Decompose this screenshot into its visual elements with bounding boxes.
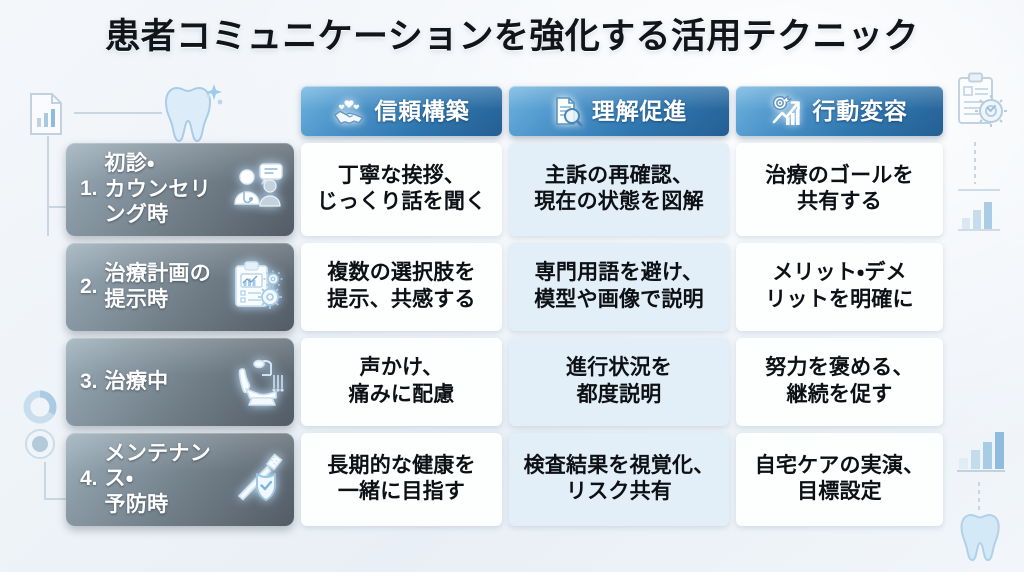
cell-line2: 現在の状態を図解 bbox=[534, 190, 704, 213]
technique-matrix: 信頼構築 理解促進 bbox=[66, 86, 958, 526]
cell-r3c3: 努力を褒める、 継続を促す bbox=[736, 338, 943, 426]
row-number-2: 2. bbox=[80, 275, 98, 299]
bar-chart-icon bbox=[955, 424, 1007, 476]
cell-text-r1c3: 治療のゴールを 共有する bbox=[765, 163, 913, 216]
cell-line2: 一緒に目指す bbox=[338, 480, 465, 503]
row-number-3: 3. bbox=[80, 370, 98, 394]
column-header-understanding-label: 理解促進 bbox=[592, 100, 687, 123]
document-magnifier-icon bbox=[551, 95, 583, 127]
deco-connector-v-1 bbox=[47, 136, 49, 236]
row-label-line1: 初診・ bbox=[105, 152, 155, 175]
cell-line2: 継続を促す bbox=[787, 383, 893, 406]
cell-text-r1c2: 主訴の再確認、 現在の状態を図解 bbox=[534, 163, 704, 216]
matrix-corner-cell bbox=[66, 86, 294, 136]
cell-line2: 都度説明 bbox=[577, 383, 662, 406]
tooth-icon bbox=[958, 512, 1006, 562]
column-header-trust-label: 信頼構築 bbox=[374, 100, 469, 123]
cell-line1: メリット・デメ bbox=[772, 261, 907, 284]
clipboard-gear-icon bbox=[954, 72, 1008, 134]
row-label-first-visit: 初診・ カウンセリング時 bbox=[105, 151, 226, 228]
cell-text-r3c3: 努力を褒める、 継続を促す bbox=[765, 355, 913, 408]
deco-dotted-right-2 bbox=[978, 482, 980, 512]
cell-line2: 共有する bbox=[797, 190, 882, 213]
cell-text-r2c3: メリット・デメ リットを明確に bbox=[765, 260, 913, 313]
slide-canvas: 患者コミュニケーションを強化する活用テクニック 信頼構築 bbox=[0, 0, 1024, 572]
cell-r2c3: メリット・デメ リットを明確に bbox=[736, 243, 943, 331]
row-header-first-visit[interactable]: 1. 初診・ カウンセリング時 bbox=[66, 143, 294, 236]
deco-dotted-right-1 bbox=[974, 142, 976, 184]
deco-connector-v-2 bbox=[44, 462, 46, 500]
cell-text-r4c2: 検査結果を視覚化、 リスク共有 bbox=[524, 453, 715, 506]
cell-text-r3c1: 声かけ、 痛みに配慮 bbox=[349, 355, 455, 408]
row-label-line2: 予防時 bbox=[105, 493, 169, 516]
page-title-text: 患者コミュニケーションを強化する活用テクニック bbox=[105, 14, 919, 60]
cell-line2: 提示、共感する bbox=[327, 288, 475, 311]
doctor-patient-speech-icon bbox=[230, 162, 284, 216]
dental-chair-icon bbox=[230, 355, 284, 409]
row-number-4: 4. bbox=[80, 467, 98, 491]
cell-line1: 進行状況を bbox=[566, 356, 672, 379]
cell-line1: 複数の選択肢を bbox=[327, 261, 475, 284]
cell-text-r3c2: 進行状況を 都度説明 bbox=[566, 355, 672, 408]
cell-r1c1: 丁寧な挨拶、 じっくり話を聞く bbox=[301, 143, 502, 236]
cell-text-r1c1: 丁寧な挨拶、 じっくり話を聞く bbox=[317, 163, 487, 216]
row-number-1: 1. bbox=[80, 177, 98, 201]
cell-r4c1: 長期的な健康を 一緒に目指す bbox=[301, 433, 502, 526]
cell-line2: じっくり話を聞く bbox=[317, 190, 487, 213]
cell-line2: リットを明確に bbox=[765, 288, 913, 311]
cell-r2c1: 複数の選択肢を 提示、共感する bbox=[301, 243, 502, 331]
cell-line2: 痛みに配慮 bbox=[349, 383, 455, 406]
row-header-during-treatment[interactable]: 3. 治療中 bbox=[66, 338, 294, 426]
cell-text-r2c2: 専門用語を避け、 模型や画像で説明 bbox=[534, 260, 704, 313]
donut-chart-icon bbox=[23, 390, 57, 424]
cell-r1c2: 主訴の再確認、 現在の状態を図解 bbox=[509, 143, 729, 236]
cell-line1: 検査結果を視覚化、 bbox=[524, 454, 715, 477]
cell-line1: 主訴の再確認、 bbox=[545, 164, 693, 187]
cell-r4c3: 自宅ケアの実演、 目標設定 bbox=[736, 433, 943, 526]
cell-line1: 自宅ケアの実演、 bbox=[755, 454, 925, 477]
row-label-during-treatment: 治療中 bbox=[105, 369, 226, 395]
cell-r2c2: 専門用語を避け、 模型や画像で説明 bbox=[509, 243, 729, 331]
row-label-line2: 提示時 bbox=[105, 288, 169, 311]
cell-r3c1: 声かけ、 痛みに配慮 bbox=[301, 338, 502, 426]
cell-r1c3: 治療のゴールを 共有する bbox=[736, 143, 943, 236]
cell-text-r4c3: 自宅ケアの実演、 目標設定 bbox=[755, 453, 925, 506]
cell-line2: 目標設定 bbox=[797, 480, 882, 503]
cell-line1: 専門用語を避け、 bbox=[535, 261, 704, 284]
row-label-treatment-plan: 治療計画の 提示時 bbox=[105, 261, 226, 312]
column-header-trust[interactable]: 信頼構築 bbox=[301, 86, 502, 136]
cell-line1: 長期的な健康を bbox=[327, 454, 475, 477]
row-header-maintenance[interactable]: 4. メンテナンス・ 予防時 bbox=[66, 433, 294, 526]
row-label-line2: カウンセリング時 bbox=[105, 178, 212, 227]
column-header-behavior-change-label: 行動変容 bbox=[812, 100, 907, 123]
cell-text-r4c1: 長期的な健康を 一緒に目指す bbox=[327, 453, 475, 506]
column-header-understanding[interactable]: 理解促進 bbox=[509, 86, 729, 136]
bar-chart-small-icon bbox=[955, 186, 1003, 236]
document-chart-icon bbox=[28, 92, 64, 136]
target-growth-chart-icon bbox=[771, 95, 803, 127]
clipboard-chart-gears-icon bbox=[230, 260, 284, 314]
row-label-maintenance: メンテナンス・ 予防時 bbox=[105, 441, 226, 518]
cell-r4c2: 検査結果を視覚化、 リスク共有 bbox=[509, 433, 729, 526]
handshake-hearts-icon bbox=[333, 95, 365, 127]
cell-text-r2c1: 複数の選択肢を 提示、共感する bbox=[327, 260, 475, 313]
row-header-treatment-plan[interactable]: 2. 治療計画の 提示時 bbox=[66, 243, 294, 331]
cell-line1: 声かけ、 bbox=[360, 356, 444, 379]
cell-line2: リスク共有 bbox=[566, 480, 672, 503]
row-label-line1: メンテナンス・ bbox=[105, 442, 212, 491]
cell-line2: 模型や画像で説明 bbox=[534, 288, 704, 311]
toothbrush-shield-icon bbox=[230, 452, 284, 506]
column-header-behavior-change[interactable]: 行動変容 bbox=[736, 86, 943, 136]
cell-line1: 努力を褒める、 bbox=[765, 356, 913, 379]
page-title: 患者コミュニケーションを強化する活用テクニック bbox=[0, 14, 1024, 60]
cell-line1: 丁寧な挨拶、 bbox=[338, 164, 465, 187]
cell-line1: 治療のゴールを bbox=[765, 164, 913, 187]
cell-r3c2: 進行状況を 都度説明 bbox=[509, 338, 729, 426]
circle-dot-icon bbox=[24, 428, 56, 460]
row-label-line1: 治療計画の bbox=[105, 262, 212, 285]
